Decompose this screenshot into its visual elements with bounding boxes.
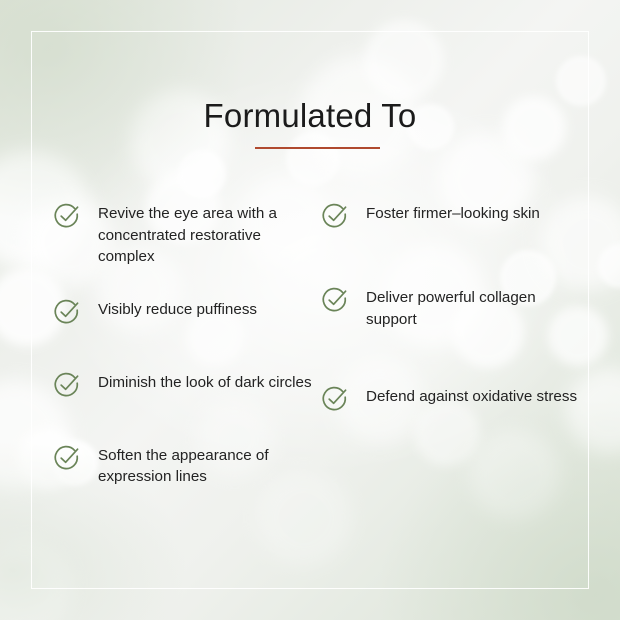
benefit-item: Soften the appearance of expression line… (52, 442, 317, 488)
benefit-label: Foster firmer–looking skin (366, 200, 540, 225)
benefits-right-column: Foster firmer–looking skin Deliver power… (320, 200, 590, 442)
promo-graphic: Formulated To Revive the eye area with a… (0, 0, 620, 620)
check-circle-icon (320, 285, 350, 315)
benefit-item: Visibly reduce puffiness (52, 296, 317, 327)
benefit-label: Defend against oxidative stress (366, 383, 577, 408)
benefit-label: Soften the appearance of expression line… (98, 442, 317, 488)
benefit-label: Diminish the look of dark circles (98, 369, 312, 394)
benefit-item: Foster firmer–looking skin (320, 200, 590, 231)
benefit-item: Defend against oxidative stress (320, 383, 590, 414)
benefit-item: Diminish the look of dark circles (52, 369, 317, 400)
check-circle-icon (52, 297, 82, 327)
benefit-label: Visibly reduce puffiness (98, 296, 257, 321)
check-circle-icon (52, 370, 82, 400)
page-title: Formulated To (0, 96, 620, 136)
title-underline-rule (255, 147, 380, 149)
check-circle-icon (52, 443, 82, 473)
check-circle-icon (320, 201, 350, 231)
benefits-left-column: Revive the eye area with a concentrated … (52, 200, 317, 516)
benefit-label: Deliver powerful collagen support (366, 284, 590, 330)
benefit-label: Revive the eye area with a concentrated … (98, 200, 317, 268)
check-circle-icon (320, 384, 350, 414)
benefit-item: Revive the eye area with a concentrated … (52, 200, 317, 268)
benefit-item: Deliver powerful collagen support (320, 284, 590, 330)
check-circle-icon (52, 201, 82, 231)
